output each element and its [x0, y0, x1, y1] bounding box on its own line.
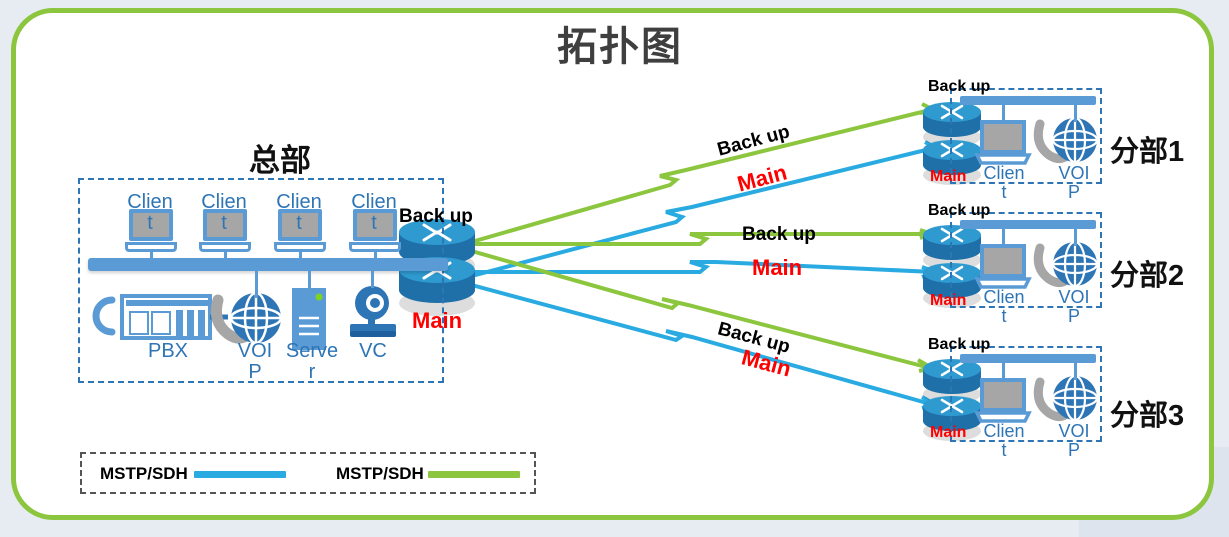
hq-main-tag: Main [412, 308, 462, 334]
hq-client-4-link [374, 252, 377, 262]
branch1-voip-link [1074, 104, 1077, 122]
branch3-main-tag: Main [930, 424, 966, 442]
hq-backbone [88, 258, 448, 271]
legend-label-2: MSTP/SDH [336, 464, 424, 484]
link-backup-branch2 [468, 234, 930, 244]
branch1-voip-label: VOIP [1042, 164, 1106, 202]
branch1-main-tag: Main [930, 168, 966, 186]
hq-client-3-link [299, 252, 302, 262]
branch2-backup-tag: Back up [928, 202, 990, 220]
link-main-branch3 [468, 284, 934, 405]
hq-vc-link [371, 266, 374, 288]
hq-client-3-label: Client [259, 192, 339, 234]
branch3-name: 分部3 [1110, 392, 1184, 434]
branch2-main-tag: Main [930, 292, 966, 310]
branch2-name: 分部2 [1110, 252, 1184, 294]
legend-swatch-1 [194, 471, 286, 478]
hq-client-2-label: Client [184, 192, 264, 234]
hq-vc-label: VC [338, 341, 408, 362]
legend-swatch-2 [428, 471, 520, 478]
branch1-client-label: Client [968, 164, 1040, 202]
link-label-main-branch2: Main [752, 255, 802, 281]
branch2-client-link [1002, 228, 1005, 248]
hq-client-2-link [224, 252, 227, 262]
legend-label-1: MSTP/SDH [100, 464, 188, 484]
link-label-backup-branch2: Back up [742, 224, 816, 246]
branch3-voip-label: VOIP [1042, 422, 1106, 460]
branch2-voip-link [1074, 228, 1077, 246]
branch1-client-link [1002, 104, 1005, 124]
link-backup-branch1 [468, 110, 930, 243]
branch3-client-link [1002, 362, 1005, 382]
branch2-voip-label: VOIP [1042, 288, 1106, 326]
branch2-client-label: Client [968, 288, 1040, 326]
hq-pbx-label: PBX [128, 341, 208, 362]
topology-diagram: 拓扑图 [0, 0, 1229, 537]
hq-server-link [308, 266, 311, 290]
hq-backup-tag: Back up [399, 206, 473, 228]
branch1-backup-tag: Back up [928, 78, 990, 96]
hq-title: 总部 [190, 135, 370, 180]
hq-client-1-label: Client [110, 192, 190, 234]
branch1-name: 分部1 [1110, 128, 1184, 170]
branch3-backup-tag: Back up [928, 336, 990, 354]
hq-client-1-link [150, 252, 153, 262]
branch3-client-label: Client [968, 422, 1040, 460]
branch3-voip-link [1074, 362, 1077, 380]
hq-voip-link [255, 266, 258, 298]
